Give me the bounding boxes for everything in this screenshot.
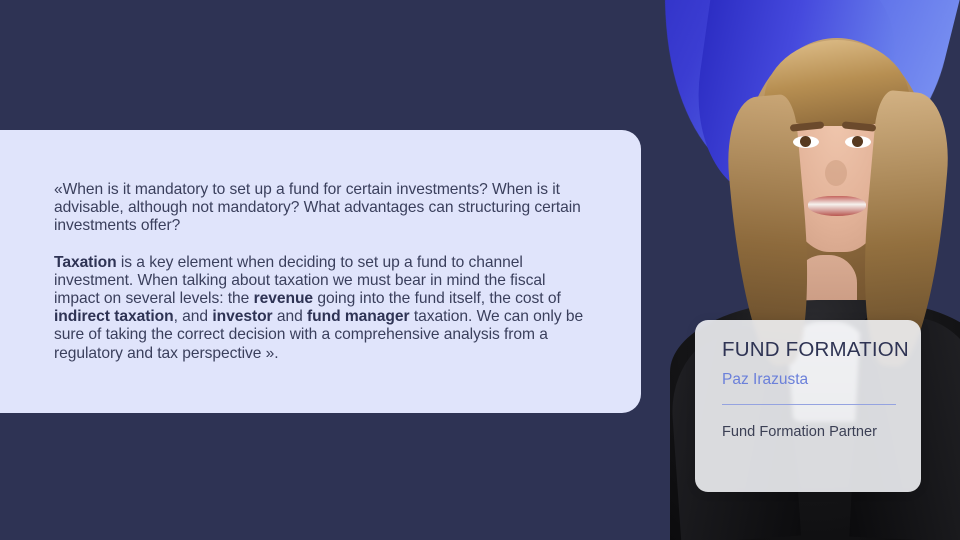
mouth bbox=[808, 196, 866, 216]
practice-area-label: FUND FORMATION bbox=[722, 338, 909, 362]
quote-emphasis: indirect taxation bbox=[54, 308, 174, 325]
quote-emphasis: Taxation bbox=[54, 254, 117, 271]
quote-emphasis: revenue bbox=[254, 290, 313, 307]
nose bbox=[825, 160, 847, 186]
iris-left bbox=[800, 136, 811, 147]
quote-panel: «When is it mandatory to set up a fund f… bbox=[0, 130, 641, 413]
quote-emphasis: fund manager bbox=[307, 308, 410, 325]
quote-run: , and bbox=[174, 308, 213, 325]
speaker-role: Fund Formation Partner bbox=[722, 424, 877, 440]
card-divider bbox=[722, 404, 896, 405]
speaker-profile-card: FUND FORMATION Paz Irazusta Fund Formati… bbox=[695, 320, 921, 492]
quote-run: going into the fund itself, the cost of bbox=[313, 290, 561, 307]
quote-paragraph-question: «When is it mandatory to set up a fund f… bbox=[54, 181, 589, 236]
quote-run: and bbox=[273, 308, 307, 325]
speaker-name: Paz Irazusta bbox=[722, 371, 808, 389]
quote-emphasis: investor bbox=[212, 308, 272, 325]
quote-paragraph-answer: Taxation is a key element when deciding … bbox=[54, 254, 589, 363]
iris-right bbox=[852, 136, 863, 147]
quote-text-block: «When is it mandatory to set up a fund f… bbox=[54, 181, 589, 363]
slide-canvas: «When is it mandatory to set up a fund f… bbox=[0, 0, 960, 540]
